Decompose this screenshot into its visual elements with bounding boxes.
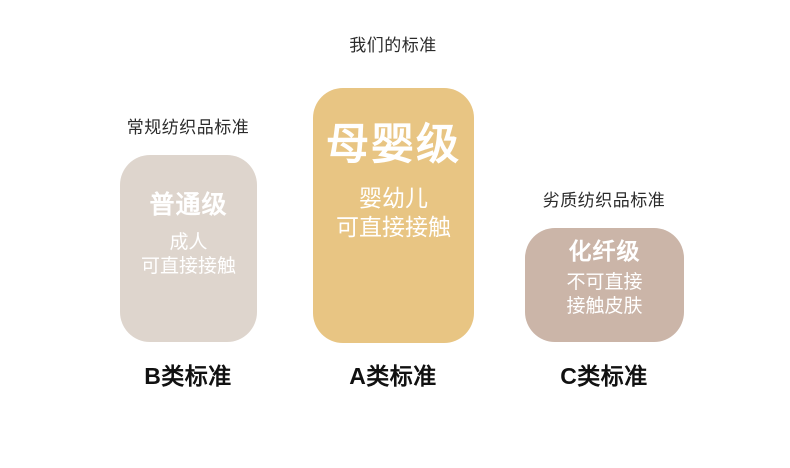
chart-canvas: 常规纺织品标准 我们的标准 劣质纺织品标准 普通级 成人 可直接接触 母婴级 婴… — [0, 0, 790, 468]
bar-c-subtitle-line2: 接触皮肤 — [566, 295, 642, 319]
bar-c-subtitle-line1: 不可直接 — [566, 271, 642, 295]
bar-b-title: 普通级 — [149, 193, 227, 218]
caption-b-standard: 常规纺织品标准 — [38, 113, 338, 138]
bar-c-subtitle: 不可直接 接触皮肤 — [566, 271, 642, 320]
bar-b-standard: 普通级 成人 可直接接触 — [120, 155, 257, 342]
bar-b-subtitle-line1: 成人 — [141, 231, 236, 255]
bar-a-subtitle: 婴幼儿 可直接接触 — [336, 184, 451, 243]
caption-a-standard: 我们的标准 — [243, 31, 543, 56]
bar-b-subtitle: 成人 可直接接触 — [141, 231, 236, 280]
bar-c-title: 化纤级 — [569, 240, 641, 263]
bar-a-title: 母婴级 — [326, 124, 461, 167]
bar-a-subtitle-line2: 可直接接触 — [336, 213, 451, 242]
caption-c-standard: 劣质纺织品标准 — [454, 186, 754, 211]
bar-b-subtitle-line2: 可直接接触 — [141, 255, 236, 279]
bar-a-subtitle-line1: 婴幼儿 — [336, 184, 451, 213]
axis-label-c: C类标准 — [454, 357, 754, 391]
bar-c-standard: 化纤级 不可直接 接触皮肤 — [525, 228, 684, 342]
bar-a-standard: 母婴级 婴幼儿 可直接接触 — [313, 88, 474, 343]
